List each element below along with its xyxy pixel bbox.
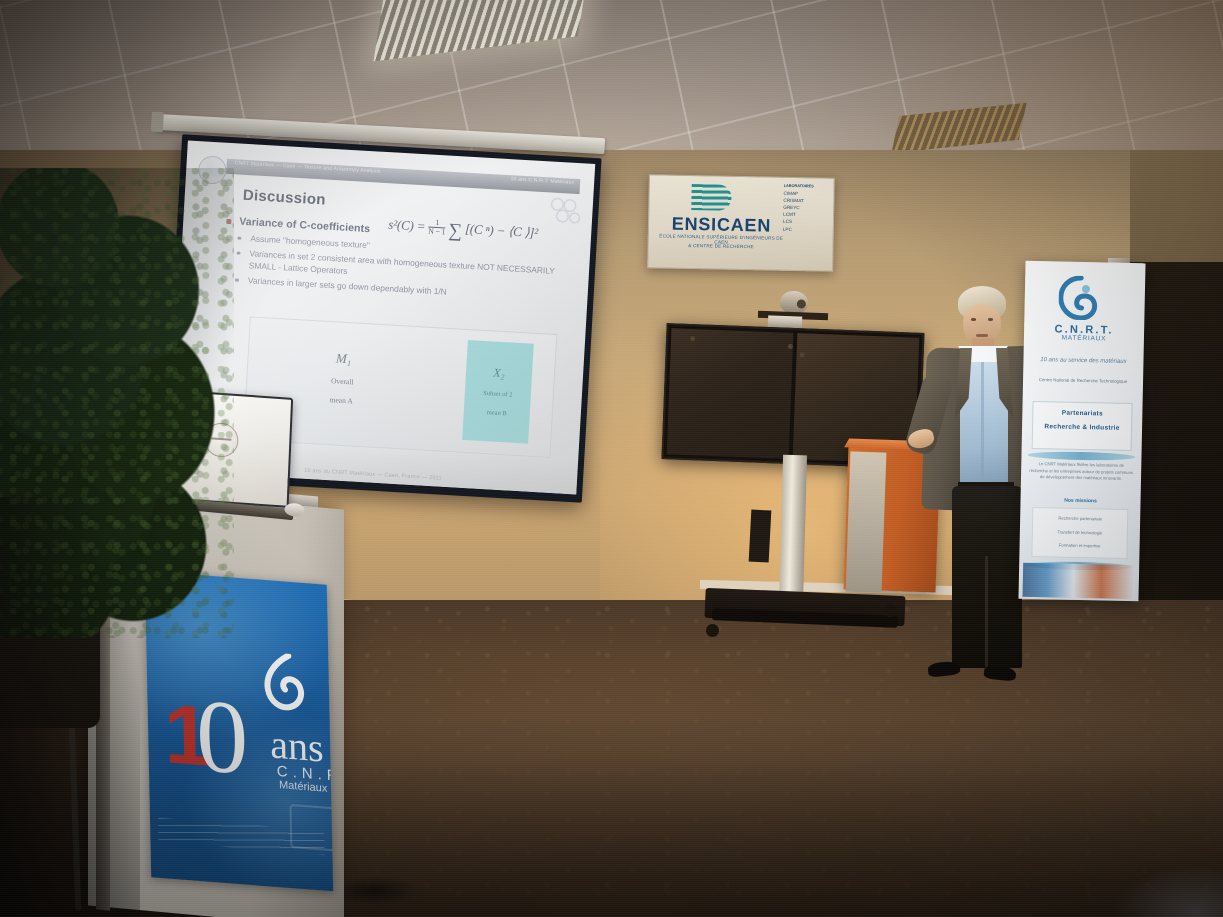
equation-denominator: N − 1: [428, 227, 446, 237]
banner-list-box: Recherche partenariale Transfert de tech…: [1031, 507, 1128, 559]
banner-highlight-line2: Recherche & Industrie: [1033, 423, 1131, 432]
banner-list-item: Recherche partenariale: [1033, 514, 1127, 524]
diagram-teal-group: X₂ Subset of 2 mean B: [464, 364, 533, 420]
foreground-object-bottom-right: [1113, 865, 1223, 917]
stand-caster: [884, 604, 897, 617]
banner-list-item: Formation et expertise: [1033, 541, 1127, 551]
equation-rhs: [(C ⁿ) − ⟨C ⟩]²: [465, 221, 539, 240]
ensicaen-logo-icon: [691, 184, 731, 211]
banner-partner-logos: [1023, 563, 1136, 599]
cnrt-swirl-logo-icon: [1058, 275, 1103, 320]
banner-list-item: Transfert de technologie: [1033, 528, 1127, 538]
slide-header-left-text: CNRT Matériaux — Caen — Texture and Anis…: [235, 160, 381, 174]
ensicaen-wall-sign: ENSICAEN ÉCOLE NATIONALE SUPÉRIEURE D'IN…: [647, 174, 835, 272]
diagram-teal-line2: mean B: [464, 407, 530, 421]
equation-sum-icon: ∑: [448, 220, 463, 242]
ensicaen-lab-list: LABORATOIRES CIMAP CRISMAT GREYC LCMT LC…: [783, 184, 828, 233]
presenter-trousers: [952, 486, 1022, 668]
lab-item: LPC: [783, 225, 827, 233]
slide-title: Discussion: [242, 187, 326, 209]
presenter-mouth: [976, 334, 988, 337]
diagram-teal-block: X₂ Subset of 2 mean B: [462, 340, 534, 444]
diagram-left-line1: Overall: [287, 374, 397, 389]
camera-lens-icon: [797, 299, 807, 309]
conference-room-photo: CNRT Matériaux — Caen — Texture and Anis…: [0, 0, 1223, 917]
presenter-eye: [988, 318, 993, 321]
diagram-left-symbol: M₁: [288, 348, 399, 370]
banner-subtitle: MATÉRIAUX: [1024, 334, 1144, 344]
presenter-eye: [971, 318, 976, 321]
presenter-shoe: [927, 660, 960, 677]
diagram-teal-symbol: X₂: [466, 364, 533, 383]
shirt-placket: [981, 356, 984, 484]
display-panel-left: [667, 328, 794, 459]
banner-tagline: 10 ans au service des matériaux: [1031, 357, 1135, 365]
poster-water-drop-icon: [258, 651, 305, 713]
slide-header-right-text: 10 ans C.N.R.T. Matériaux: [510, 176, 574, 186]
diagram-left-group: M₁ Overall mean A: [286, 348, 399, 408]
diagram-left-line2: mean A: [286, 393, 396, 408]
banner-lead: Centre National de Recherche Technologiq…: [1031, 377, 1135, 386]
cnrt-rollup-banner: C.N.R.T. MATÉRIAUX 10 ans au service des…: [1018, 261, 1145, 601]
banner-highlight-box: Partenariats Recherche & Industrie: [1032, 401, 1133, 451]
foreground-darkening-left: [0, 497, 140, 917]
diagram-teal-line1: Subset of 2: [465, 388, 531, 402]
banner-body-text: Le CNRT Matériaux fédère les laboratoire…: [1029, 461, 1133, 483]
equation-lhs: s²(C) =: [388, 217, 426, 234]
lab-list-header: LABORATOIRES: [784, 184, 828, 189]
banner-wave-graphic: [1027, 451, 1135, 461]
banner-highlight-line1: Partenariats: [1033, 409, 1131, 418]
housing-endcap: [151, 112, 164, 133]
ensicaen-subtitle-line2: & CENTRE DE RECHERCHE: [659, 242, 784, 249]
equation-fraction: 1 N − 1: [428, 219, 446, 238]
slide-watermark-icon: [548, 195, 584, 227]
media-player-box: [749, 510, 772, 563]
banner-section-title: Nos missions: [1020, 497, 1140, 506]
cabinet-side-panel: [846, 451, 887, 592]
trouser-seam: [985, 556, 988, 668]
stand-caster: [706, 624, 719, 637]
